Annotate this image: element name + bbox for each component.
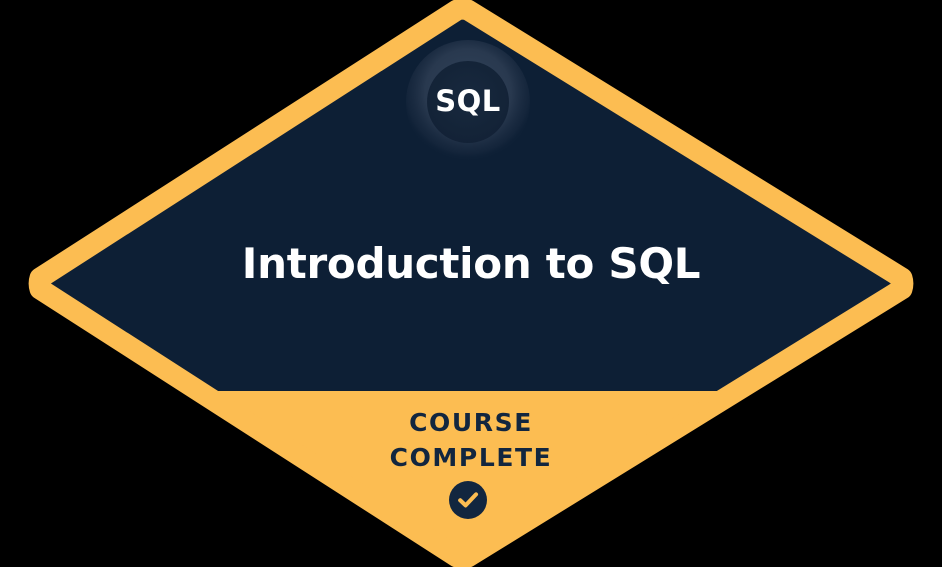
course-completion-badge: SQL Introduction to SQL COURSE COMPLETE — [0, 0, 942, 567]
status-line-secondary: COMPLETE — [0, 441, 942, 476]
course-title: Introduction to SQL — [0, 240, 942, 287]
technology-badge-label: SQL — [435, 87, 501, 116]
technology-badge: SQL — [408, 42, 528, 162]
completion-status: COURSE COMPLETE — [0, 406, 942, 475]
status-line-primary: COURSE — [0, 406, 942, 441]
check-circle-icon — [449, 481, 487, 519]
